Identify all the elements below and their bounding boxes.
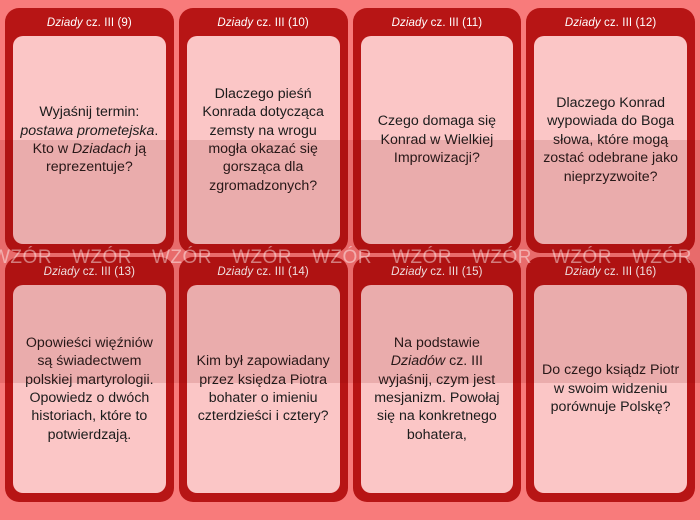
flashcard-panel: Dlaczego pieśń Konrada dotycząca zemsty … — [187, 36, 340, 244]
flashcard[interactable]: Dziady cz. III (15)Na podstawie Dziadów … — [353, 257, 522, 502]
flashcard-title: Dziady cz. III (13) — [9, 261, 170, 283]
flashcard-title-number: cz. III (9) — [83, 17, 132, 29]
flashcard-title-number: cz. III (16) — [601, 266, 657, 278]
flashcard-title-work: Dziady — [217, 266, 253, 278]
flashcard-panel: Kim był zapowiadany przez księdza Piotra… — [187, 285, 340, 493]
flashcard-question: Opowieści więźniów są świadectwem polski… — [18, 334, 161, 445]
flashcard-title-work: Dziady — [217, 17, 253, 29]
flashcard-title: Dziady cz. III (11) — [357, 12, 518, 34]
flashcard-title-number: cz. III (11) — [427, 17, 482, 29]
flashcard-panel: Opowieści więźniów są świadectwem polski… — [13, 285, 166, 493]
flashcard-title-work: Dziady — [565, 17, 601, 29]
flashcard-question: Dlaczego Konrad wypowiada do Boga słowa,… — [539, 94, 682, 186]
flashcard-question: Na podstawie Dziadów cz. III wyjaśnij, c… — [366, 334, 509, 445]
flashcard[interactable]: Dziady cz. III (14)Kim był zapowiadany p… — [179, 257, 348, 502]
flashcard-panel: Czego domaga się Konrad w Wielkiej Impro… — [361, 36, 514, 244]
flashcard-panel: Dlaczego Konrad wypowiada do Boga słowa,… — [534, 36, 687, 244]
flashcard-title: Dziady cz. III (15) — [357, 261, 518, 283]
flashcard-title-work: Dziady — [44, 266, 80, 278]
flashcard[interactable]: Dziady cz. III (10)Dlaczego pieśń Konrad… — [179, 8, 348, 253]
flashcard-title-number: cz. III (14) — [253, 266, 309, 278]
flashcard-question: Do czego ksiądz Piotr w swoim widzeniu p… — [539, 361, 682, 416]
flashcard-title-work: Dziady — [565, 266, 601, 278]
flashcard-grid: Dziady cz. III (9)Wyjaśnij termin: posta… — [0, 0, 700, 520]
flashcard-title-work: Dziady — [391, 266, 427, 278]
flashcard[interactable]: Dziady cz. III (16)Do czego ksiądz Piotr… — [526, 257, 695, 502]
flashcard-title: Dziady cz. III (14) — [183, 261, 344, 283]
flashcard-panel: Wyjaśnij termin: postawa prometejska. Kt… — [13, 36, 166, 244]
flashcard[interactable]: Dziady cz. III (11)Czego domaga się Konr… — [353, 8, 522, 253]
flashcard-title-work: Dziady — [392, 17, 428, 29]
flashcard-panel: Na podstawie Dziadów cz. III wyjaśnij, c… — [361, 285, 514, 493]
flashcard-title-number: cz. III (15) — [427, 266, 483, 278]
flashcard[interactable]: Dziady cz. III (12)Dlaczego Konrad wypow… — [526, 8, 695, 253]
flashcard-title: Dziady cz. III (10) — [183, 12, 344, 34]
flashcard-title-number: cz. III (10) — [253, 17, 309, 29]
flashcard-question: Kim był zapowiadany przez księdza Piotra… — [192, 352, 335, 426]
flashcard-question: Wyjaśnij termin: postawa prometejska. Kt… — [18, 103, 161, 177]
flashcard-question: Dlaczego pieśń Konrada dotycząca zemsty … — [192, 85, 335, 196]
flashcard-title: Dziady cz. III (9) — [9, 12, 170, 34]
flashcard-title-work: Dziady — [47, 17, 83, 29]
flashcard-question: Czego domaga się Konrad w Wielkiej Impro… — [366, 112, 509, 167]
flashcard[interactable]: Dziady cz. III (13)Opowieści więźniów są… — [5, 257, 174, 502]
flashcard-panel: Do czego ksiądz Piotr w swoim widzeniu p… — [534, 285, 687, 493]
flashcard-title: Dziady cz. III (16) — [530, 261, 691, 283]
flashcard-title-number: cz. III (12) — [601, 17, 657, 29]
flashcard-title-number: cz. III (13) — [79, 266, 135, 278]
flashcard-title: Dziady cz. III (12) — [530, 12, 691, 34]
flashcard[interactable]: Dziady cz. III (9)Wyjaśnij termin: posta… — [5, 8, 174, 253]
